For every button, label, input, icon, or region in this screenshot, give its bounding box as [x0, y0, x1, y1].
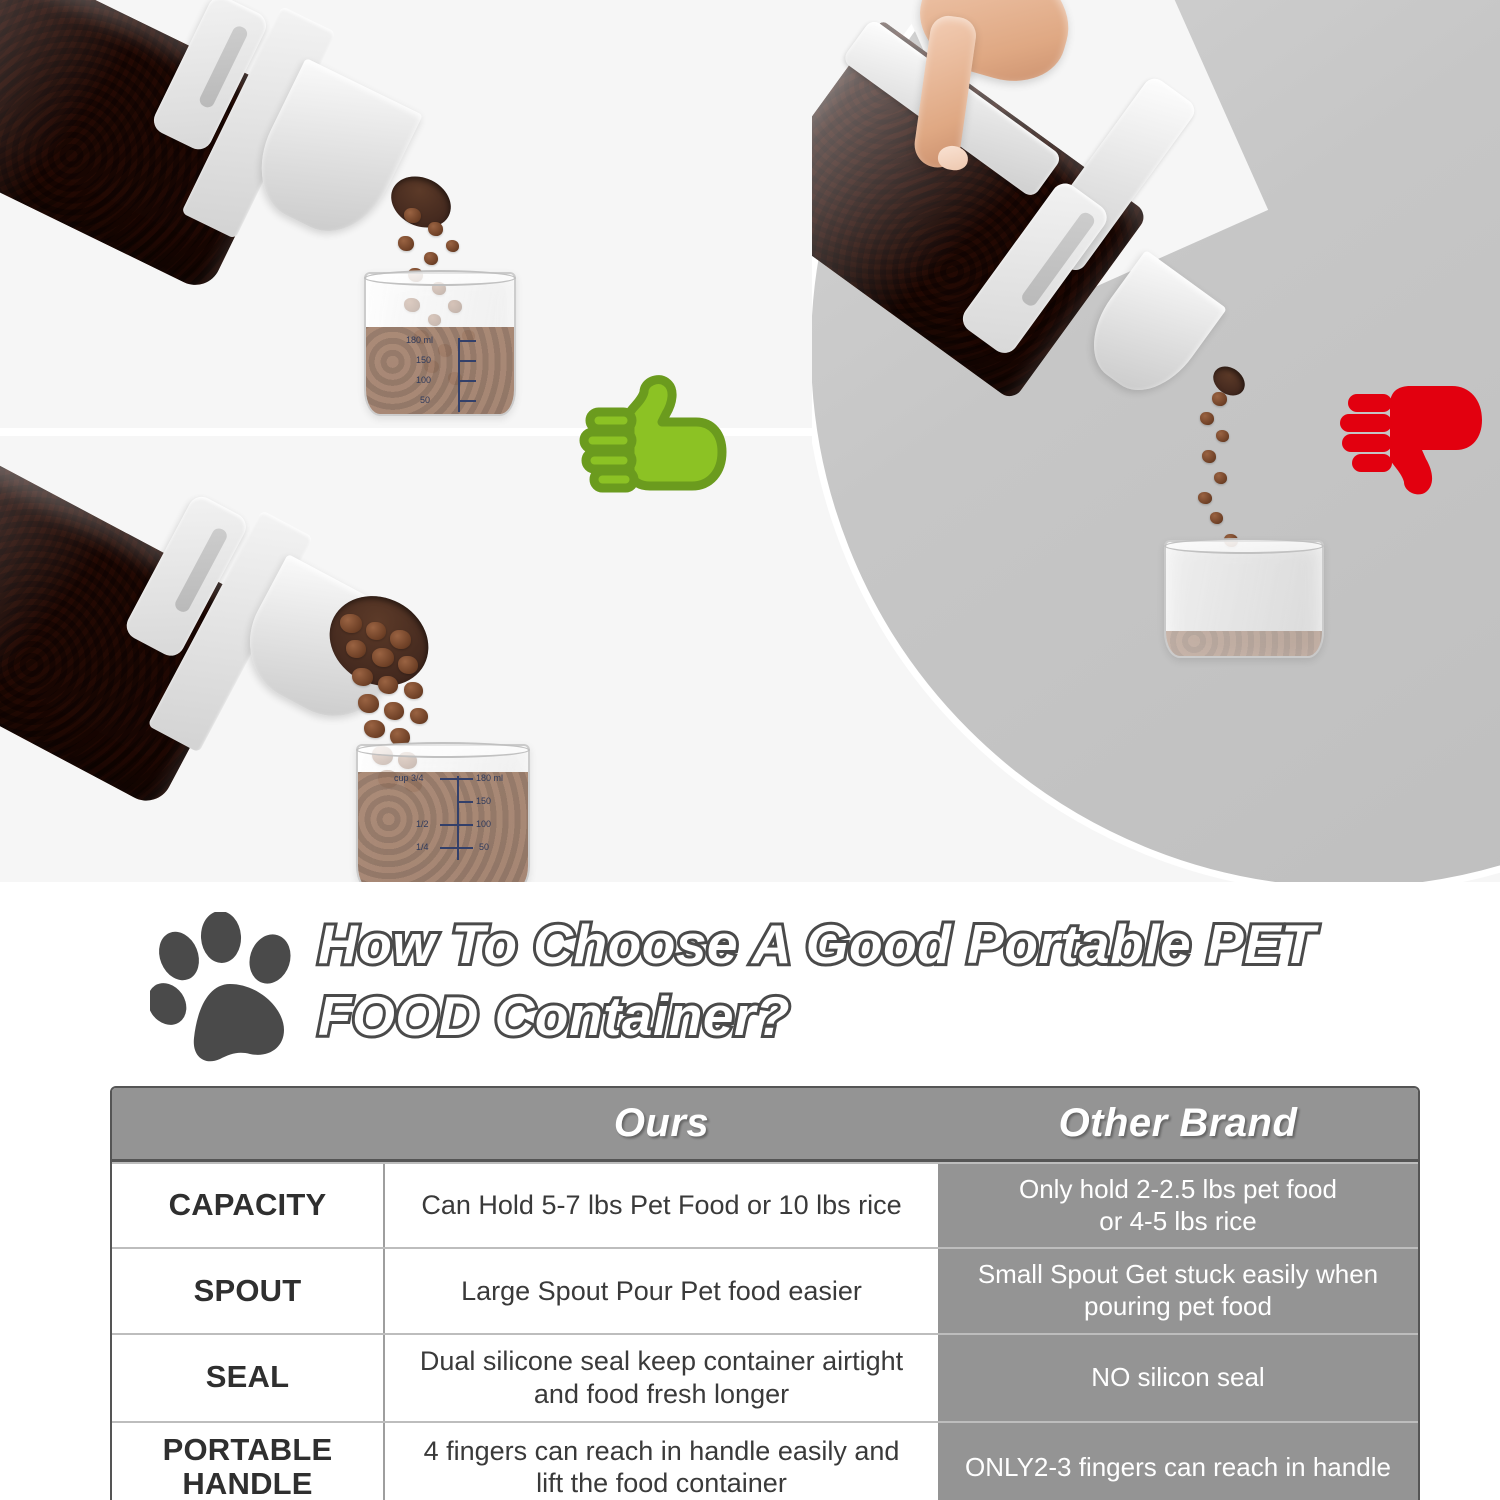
- cup-kibble-fill: [366, 327, 514, 414]
- kibble: [1216, 430, 1229, 442]
- cup-label-150: 150: [416, 356, 431, 365]
- measuring-cup: [356, 744, 530, 882]
- cup-tick-left: [440, 778, 457, 780]
- cup-label-half: 1/2: [416, 820, 429, 829]
- cup-kibble-fill: [1166, 631, 1322, 656]
- cup-label-100: 100: [476, 820, 491, 829]
- measuring-cup: [1164, 540, 1324, 658]
- table-row: SEAL Dual silicone seal keep container a…: [112, 1333, 1418, 1421]
- cup-tick: [457, 847, 473, 849]
- row-other-seal: NO silicon seal: [938, 1335, 1418, 1421]
- cup-tick-left: [440, 824, 457, 826]
- measuring-cup-rim: [364, 270, 516, 286]
- cup-label-cup34: cup 3/4: [394, 774, 424, 783]
- kibble: [346, 640, 366, 658]
- cup-tick: [457, 778, 473, 780]
- title-line-1: How To Choose A Good Portable PET: [318, 908, 1418, 980]
- kibble: [424, 252, 438, 265]
- thumbs-up-icon: [572, 372, 732, 494]
- kibble: [410, 708, 428, 724]
- table-row: PORTABLEHANDLE 4 fingers can reach in ha…: [112, 1421, 1418, 1500]
- kibble: [384, 702, 404, 720]
- row-feature-capacity: CAPACITY: [112, 1164, 385, 1247]
- row-feature-spout: SPOUT: [112, 1249, 385, 1332]
- product-photo-section: 180 ml 150 100 50: [0, 0, 1500, 882]
- row-other-capacity: Only hold 2-2.5 lbs pet foodor 4-5 lbs r…: [938, 1164, 1418, 1247]
- kibble: [1210, 512, 1223, 524]
- kibble: [372, 648, 394, 667]
- kibble: [428, 222, 443, 236]
- kibble: [390, 630, 411, 649]
- cup-kibble-fill: [358, 772, 528, 882]
- table-row: SPOUT Large Spout Pour Pet food easier S…: [112, 1247, 1418, 1332]
- header-cell-ours: Ours: [385, 1088, 938, 1159]
- comparison-table: Ours Other Brand CAPACITY Can Hold 5-7 l…: [110, 1086, 1420, 1500]
- kibble: [364, 720, 385, 738]
- kibble: [404, 682, 423, 699]
- photo-ours-wide-spout: cup 3/4 1/2 1/4 180 ml 150 100 50: [0, 436, 812, 882]
- title-line-2: FOOD Container?: [318, 980, 1418, 1052]
- measuring-cup-rim: [356, 742, 530, 758]
- row-other-portable-handle: ONLY2-3 fingers can reach in handle: [938, 1423, 1418, 1500]
- header-label-other-brand: Other Brand: [1059, 1101, 1298, 1146]
- cup-tick-left: [440, 847, 457, 849]
- cup-tick: [458, 360, 476, 362]
- row-feature-seal: SEAL: [112, 1335, 385, 1421]
- row-feature-portable-handle: PORTABLEHANDLE: [112, 1423, 385, 1500]
- thumbs-down-icon: [1330, 374, 1490, 500]
- photo-ours-large-spout: 180 ml 150 100 50: [0, 0, 812, 428]
- cup-tick: [458, 340, 476, 342]
- kibble: [366, 622, 386, 640]
- row-ours-spout: Large Spout Pour Pet food easier: [385, 1249, 938, 1332]
- kibble: [358, 694, 379, 713]
- row-ours-seal: Dual silicone seal keep container airtig…: [385, 1335, 938, 1421]
- kibble: [352, 668, 373, 686]
- cup-tick: [458, 380, 476, 382]
- kibble: [1212, 392, 1227, 406]
- row-ours-portable-handle: 4 fingers can reach in handle easily and…: [385, 1423, 938, 1500]
- kibble: [340, 614, 362, 633]
- cup-label-150: 150: [476, 797, 491, 806]
- table-header-row: Ours Other Brand: [112, 1088, 1418, 1162]
- cup-tick: [458, 400, 476, 402]
- page-title: How To Choose A Good Portable PET FOOD C…: [318, 908, 1418, 1052]
- paw-print-icon: [150, 912, 315, 1062]
- kibble: [398, 656, 418, 674]
- kibble: [1202, 450, 1216, 463]
- measuring-cup: [364, 272, 516, 416]
- cup-label-50: 50: [420, 396, 430, 405]
- cup-tick: [457, 801, 473, 803]
- row-other-spout: Small Spout Get stuck easily whenpouring…: [938, 1249, 1418, 1332]
- kibble: [1214, 472, 1227, 484]
- table-row: CAPACITY Can Hold 5-7 lbs Pet Food or 10…: [112, 1162, 1418, 1247]
- kibble: [398, 236, 414, 251]
- measuring-cup-rim: [1164, 538, 1324, 554]
- cup-label-180ml: 180 ml: [476, 774, 503, 783]
- spout-opening: [383, 167, 460, 237]
- kibble: [1198, 492, 1212, 504]
- cup-label-quarter: 1/4: [416, 843, 429, 852]
- cup-label-100: 100: [416, 376, 431, 385]
- kibble: [404, 208, 421, 223]
- cup-label-180ml: 180 ml: [406, 336, 433, 345]
- kibble: [446, 240, 459, 252]
- kibble: [378, 676, 398, 694]
- header-label-ours: Ours: [614, 1101, 709, 1146]
- row-ours-capacity: Can Hold 5-7 lbs Pet Food or 10 lbs rice: [385, 1164, 938, 1247]
- header-cell-blank: [112, 1088, 385, 1159]
- infographic-page: 180 ml 150 100 50: [0, 0, 1500, 1500]
- cup-label-50: 50: [479, 843, 489, 852]
- kibble: [1200, 412, 1214, 425]
- cup-tick: [457, 824, 473, 826]
- header-cell-other: Other Brand: [938, 1088, 1418, 1159]
